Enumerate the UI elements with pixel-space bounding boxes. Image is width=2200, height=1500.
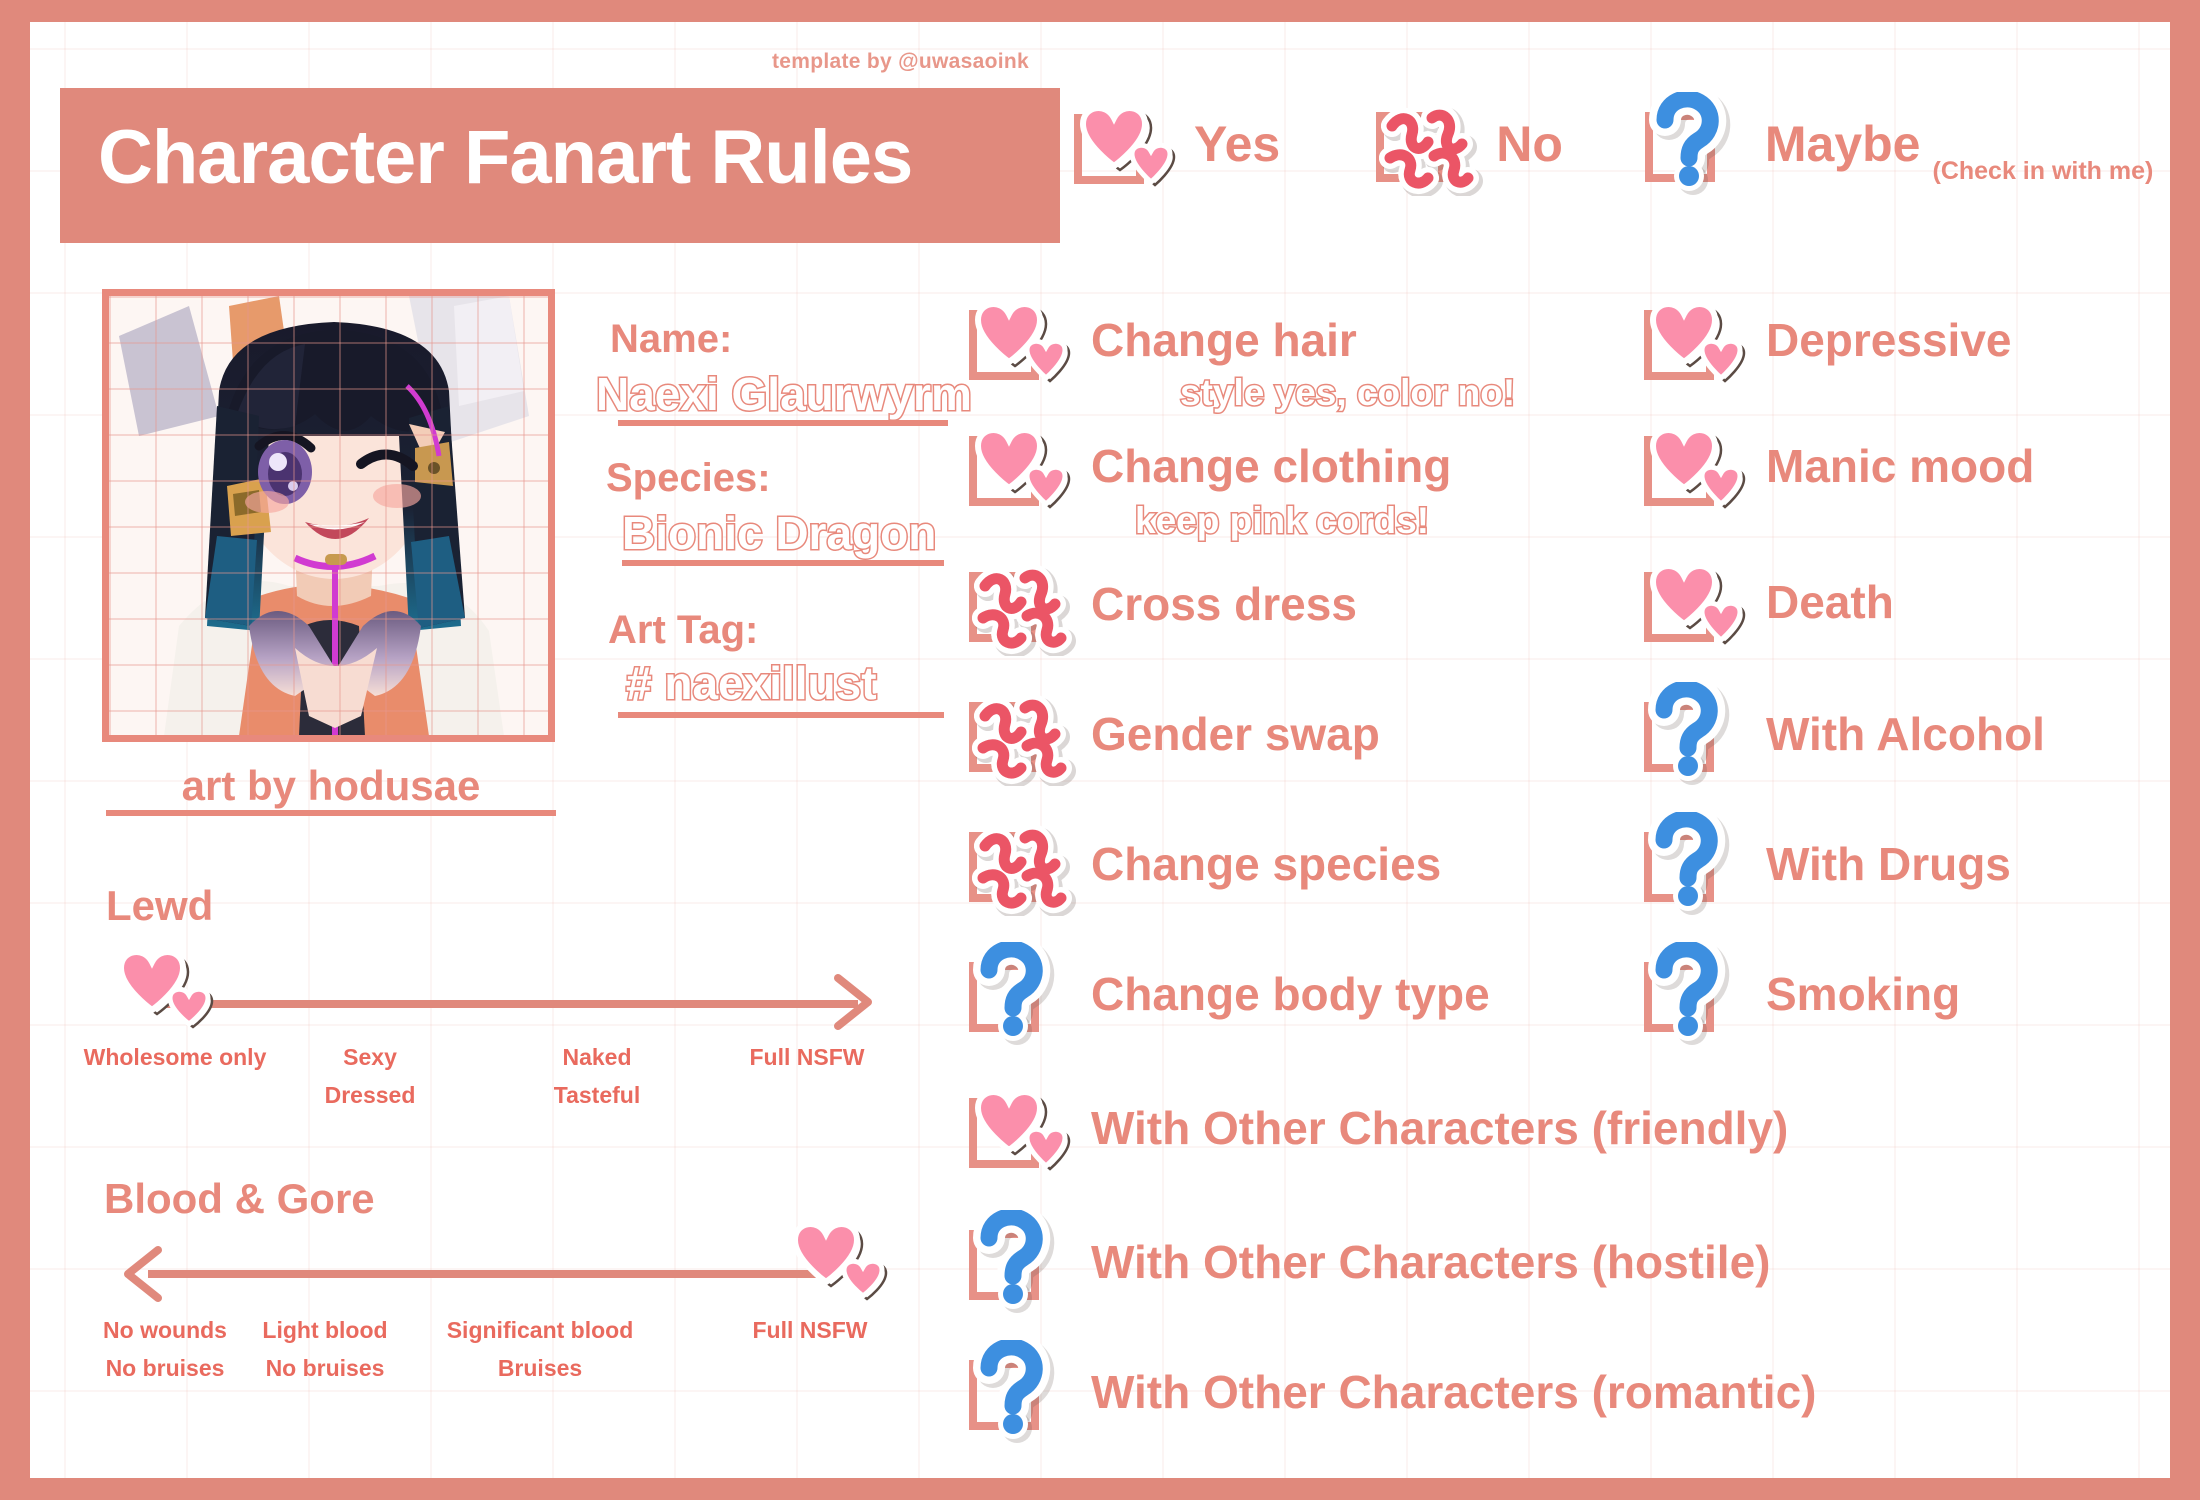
question-mark-icon[interactable] xyxy=(965,942,1083,1046)
heart-check-icon[interactable] xyxy=(965,416,1083,516)
rule-row[interactable]: With Drugs xyxy=(1640,812,2011,916)
rule-label: With Alcohol xyxy=(1766,707,2045,761)
slider-title-lewd: Lewd xyxy=(106,882,213,930)
tick-line1: Full NSFW xyxy=(750,1044,865,1070)
slider-title-blood: Blood & Gore xyxy=(104,1175,375,1223)
field-label-species: Species: xyxy=(606,456,771,501)
slider-marker-blood[interactable] xyxy=(782,1212,900,1304)
legend-label-maybe: Maybe xyxy=(1765,115,1921,173)
field-value-species: Bionic Dragon xyxy=(622,506,936,560)
arrow-left-icon xyxy=(118,1242,166,1306)
legend-sublabel-maybe: (Check in with me) xyxy=(1933,157,2154,196)
rule-row[interactable]: Change body type xyxy=(965,942,1490,1046)
slider-tick-lewd-2: Naked Tasteful xyxy=(482,1044,712,1109)
question-mark-icon[interactable] xyxy=(1640,942,1758,1046)
rule-row[interactable]: Depressive xyxy=(1640,290,2012,390)
field-label-name: Name: xyxy=(610,317,732,362)
legend-label-yes: Yes xyxy=(1194,115,1280,173)
question-mark-icon[interactable] xyxy=(1640,682,1758,786)
rule-label: Change clothing xyxy=(1091,439,1451,493)
field-underline-name xyxy=(618,420,948,426)
field-value-arttag: # naexillust xyxy=(626,656,877,710)
slider-tick-blood-1: Light blood No bruises xyxy=(215,1317,435,1382)
legend-label-no: No xyxy=(1496,115,1563,173)
legend-item-yes: Yes xyxy=(1070,94,1280,194)
rule-label: Cross dress xyxy=(1091,577,1357,631)
heart-check-icon[interactable] xyxy=(1640,552,1758,652)
rule-row[interactable]: Smoking xyxy=(1640,942,1960,1046)
question-mark-icon[interactable] xyxy=(1640,812,1758,916)
slider-axis-blood xyxy=(148,1270,858,1278)
tick-line1: Full NSFW xyxy=(753,1317,868,1343)
rule-label: Death xyxy=(1766,575,1894,629)
tick-line1: Sexy xyxy=(343,1044,397,1070)
scribble-x-icon[interactable] xyxy=(1372,92,1490,196)
slider-tick-lewd-1: Sexy Dressed xyxy=(255,1044,485,1109)
rule-label: Smoking xyxy=(1766,967,1960,1021)
rule-note: keep pink cords! xyxy=(1135,500,1429,542)
legend: YesNoMaybe(Check in with me) xyxy=(1070,84,2153,204)
rule-label: With Other Characters (hostile) xyxy=(1091,1235,1770,1289)
question-mark-icon[interactable] xyxy=(965,1210,1083,1314)
arrow-right-icon xyxy=(830,970,878,1034)
field-underline-species xyxy=(622,560,944,566)
rule-row[interactable]: Death xyxy=(1640,552,1894,652)
template-credit: template by @uwasaoink xyxy=(772,50,1029,74)
tick-line1: Significant blood xyxy=(447,1317,634,1343)
art-credit-underline xyxy=(106,810,556,816)
question-mark-icon[interactable] xyxy=(1641,92,1759,196)
scribble-x-icon[interactable] xyxy=(965,812,1083,916)
slider-axis-lewd xyxy=(158,1000,858,1008)
rule-label: Manic mood xyxy=(1766,439,2034,493)
field-value-name: Naexi Glaurwyrm xyxy=(596,367,972,421)
tick-line1: No wounds xyxy=(103,1317,227,1343)
slider-tick-blood-2: Significant blood Bruises xyxy=(405,1317,675,1382)
rule-label: Gender swap xyxy=(1091,707,1380,761)
field-label-arttag: Art Tag: xyxy=(608,608,758,653)
rule-label: Depressive xyxy=(1766,313,2012,367)
scribble-x-icon[interactable] xyxy=(965,682,1083,786)
character-portrait xyxy=(102,289,555,742)
rule-row[interactable]: With Alcohol xyxy=(1640,682,2045,786)
rule-row[interactable]: With Other Characters (hostile) xyxy=(965,1210,1770,1314)
heart-check-icon[interactable] xyxy=(965,1078,1083,1178)
tick-line1: Naked xyxy=(562,1044,631,1070)
heart-check-icon[interactable] xyxy=(1070,94,1188,194)
rule-label: Change species xyxy=(1091,837,1441,891)
tick-line1: Wholesome only xyxy=(84,1044,267,1070)
title-banner: Character Fanart Rules xyxy=(60,88,1060,243)
rule-row[interactable]: With Other Characters (romantic) xyxy=(965,1340,1817,1444)
rule-label: With Other Characters (romantic) xyxy=(1091,1365,1817,1419)
slider-marker-lewd[interactable] xyxy=(108,940,226,1032)
tick-line2: Bruises xyxy=(405,1355,675,1382)
tick-line2: Dressed xyxy=(255,1082,485,1109)
rule-note: style yes, color no! xyxy=(1180,372,1515,414)
slider-tick-lewd-3: Full NSFW xyxy=(682,1044,932,1082)
heart-check-icon[interactable] xyxy=(1640,290,1758,390)
heart-check-icon[interactable] xyxy=(965,290,1083,390)
legend-item-no: No xyxy=(1372,92,1563,196)
page-card: template by @uwasaoink Character Fanart … xyxy=(30,22,2170,1478)
rule-row[interactable]: Cross dress xyxy=(965,552,1357,656)
rule-row[interactable]: With Other Characters (friendly) xyxy=(965,1078,1788,1178)
rule-row[interactable]: Change species xyxy=(965,812,1441,916)
rule-row[interactable]: Gender swap xyxy=(965,682,1380,786)
rule-row[interactable]: Manic mood xyxy=(1640,416,2034,516)
heart-check-icon[interactable] xyxy=(1640,416,1758,516)
slider-tick-blood-3: Full NSFW xyxy=(685,1317,935,1355)
rule-label: Change hair xyxy=(1091,313,1357,367)
rule-label: Change body type xyxy=(1091,967,1490,1021)
tick-line1: Light blood xyxy=(262,1317,387,1343)
scribble-x-icon[interactable] xyxy=(965,552,1083,656)
field-underline-arttag xyxy=(618,712,944,718)
tick-line2: Tasteful xyxy=(482,1082,712,1109)
rule-label: With Drugs xyxy=(1766,837,2011,891)
art-credit: art by hodusae xyxy=(106,762,556,810)
portrait-grid-bg xyxy=(109,296,548,735)
tick-line2: No bruises xyxy=(215,1355,435,1382)
rule-label: With Other Characters (friendly) xyxy=(1091,1101,1788,1155)
question-mark-icon[interactable] xyxy=(965,1340,1083,1444)
page-title: Character Fanart Rules xyxy=(98,114,912,201)
fanart-rules-page: template by @uwasaoink Character Fanart … xyxy=(0,0,2200,1500)
legend-item-maybe: Maybe(Check in with me) xyxy=(1641,92,2154,196)
